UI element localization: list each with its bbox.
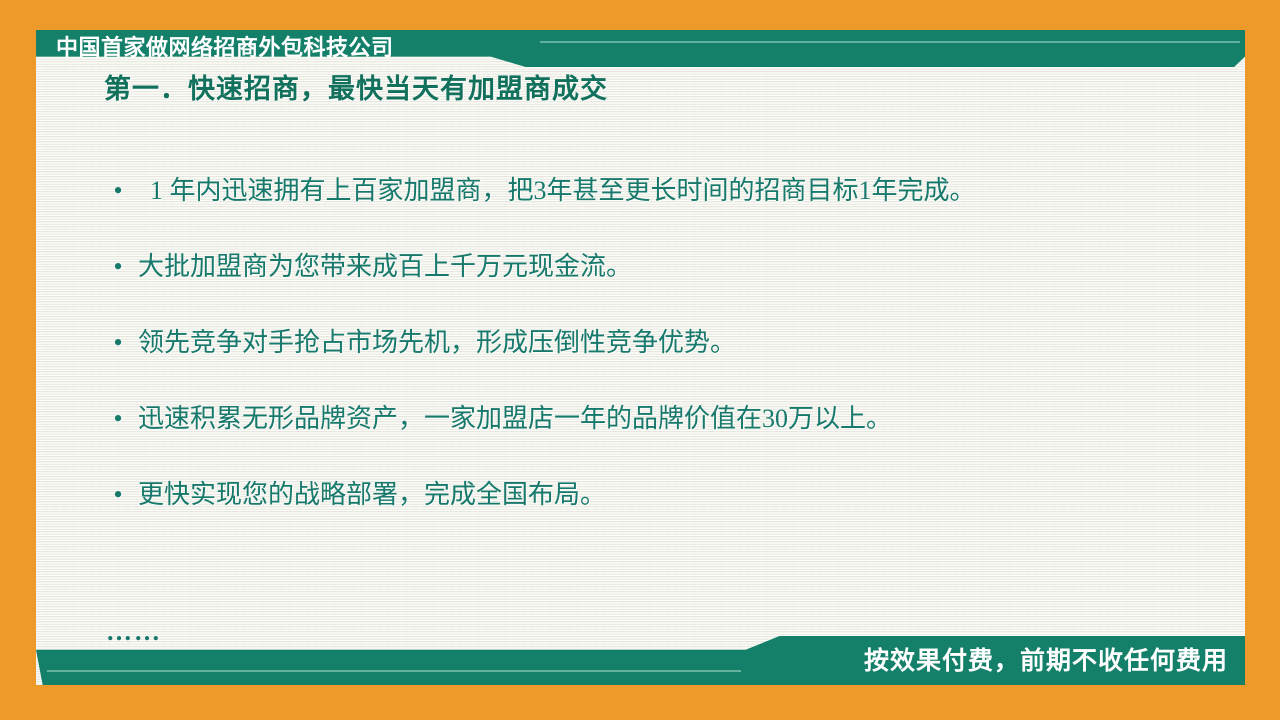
- list-item-text: 更快实现您的战略部署，完成全国布局。: [138, 480, 606, 509]
- header-company-title: 中国首家做网络招商外包科技公司: [56, 31, 394, 65]
- bullet-dot-icon: •: [108, 469, 128, 521]
- benefit-bullet-list: • 1 年内迅速拥有上百家加盟商，把3年甚至更长时间的招商目标1年完成。 • 大…: [104, 165, 1194, 545]
- list-item-text: 迅速积累无形品牌资产，一家加盟店一年的品牌价值在30万以上。: [138, 404, 892, 433]
- slide-canvas: 中国首家做网络招商外包科技公司 第一．快速招商，最快当天有加盟商成交 • 1 年…: [0, 0, 1280, 720]
- section-title: 第一．快速招商，最快当天有加盟商成交: [104, 67, 608, 106]
- list-item-text: 1 年内迅速拥有上百家加盟商，把3年甚至更长时间的招商目标1年完成。: [138, 176, 976, 205]
- bullet-dot-icon: •: [108, 165, 128, 217]
- list-item-text: 领先竞争对手抢占市场先机，形成压倒性竞争优势。: [138, 328, 736, 357]
- footer-accent-rule: [47, 670, 741, 672]
- list-item-text: 大批加盟商为您带来成百上千万元现金流。: [138, 252, 632, 281]
- list-item: • 领先竞争对手抢占市场先机，形成压倒性竞争优势。: [104, 317, 1194, 369]
- bullet-dot-icon: •: [108, 317, 128, 369]
- bullet-dot-icon: •: [108, 393, 128, 445]
- list-item: • 1 年内迅速拥有上百家加盟商，把3年甚至更长时间的招商目标1年完成。: [104, 165, 1194, 217]
- ellipsis-continuation: ……: [106, 617, 162, 647]
- bullet-dot-icon: •: [108, 241, 128, 293]
- list-item: • 迅速积累无形品牌资产，一家加盟店一年的品牌价值在30万以上。: [104, 393, 1194, 445]
- footer-tagline: 按效果付费，前期不收任何费用: [864, 642, 1228, 680]
- header-accent-rule: [540, 41, 1240, 43]
- list-item: • 更快实现您的战略部署，完成全国布局。: [104, 469, 1194, 521]
- list-item: • 大批加盟商为您带来成百上千万元现金流。: [104, 241, 1194, 293]
